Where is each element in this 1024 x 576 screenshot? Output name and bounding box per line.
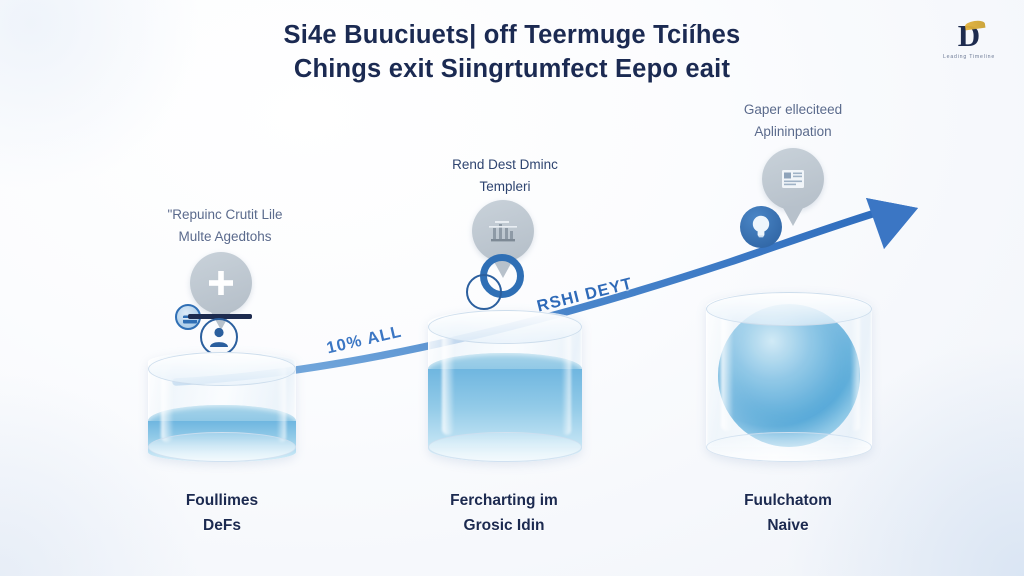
stage-1-upper-label: "Repuinc Crutit Lile Multe Agedtohs [118,204,332,248]
stage-1-caption-line-1: Foullimes [122,488,322,513]
cylinder-top-rim [428,310,582,344]
pin-drop-shape [472,200,534,262]
stage-1-caption: Foullimes DeFs [122,488,322,538]
stage-3-caption: Fuulchatom Naive [688,488,888,538]
glass-highlight-left [721,312,733,431]
factory-icon [472,200,534,262]
stage-2-caption: Fercharting im Grosic Idin [404,488,604,538]
ring-outline-badge[interactable] [466,274,502,310]
lightbulb-badge[interactable] [740,206,782,248]
glass-highlight-left [442,328,454,434]
page-title: Si4e Buuciuets| off Teermuge Tciíhes Chi… [0,18,1024,86]
stage-3-upper-label: Gaper elleciteed Aplininpation [680,99,906,143]
infographic-canvas: Si4e Buuciuets| off Teermuge Tciíhes Chi… [0,0,1024,576]
arrow-label-1: 10% ALL [325,323,404,359]
brand-logo: D Leading Timeline [936,18,1002,70]
stage-2-upper-line-1: Rend Dest Dminc [398,154,612,176]
stage-1-cylinder [148,352,296,462]
stage-2-caption-line-1: Fercharting im [404,488,604,513]
cylinder-bottom-rim [148,432,296,462]
stage-2-cylinder [428,310,582,462]
stage-3-caption-line-1: Fuulchatom [688,488,888,513]
logo-subtext: Leading Timeline [936,54,1002,60]
stage-1-upper-line-1: "Repuinc Crutit Lile [118,204,332,226]
stage-3-caption-line-2: Naive [688,513,888,538]
stage-3-pin-marker[interactable] [762,148,824,210]
plus-icon [190,252,252,314]
user-account-icon[interactable] [200,318,238,356]
stage-2-caption-line-2: Grosic Idin [404,513,604,538]
stage-1-caption-line-2: DeFs [122,513,322,538]
title-line-2: Chings exit Siingrtumfect Eepo eait [0,52,1024,86]
stage-1-upper-line-2: Multe Agedtohs [118,226,332,248]
pin-drop-shape [190,252,252,314]
logo-letter-mark: D [936,18,1002,54]
cylinder-bottom-rim [706,432,872,462]
building-document-icon [762,148,824,210]
stage-3-cylinder [706,292,872,462]
stage-1-pin-marker[interactable] [190,252,252,314]
title-line-1: Si4e Buuciuets| off Teermuge Tciíhes [0,18,1024,52]
stage-2-upper-line-2: Templeri [398,176,612,198]
stage-2-upper-label: Rend Dest Dminc Templeri [398,154,612,198]
cylinder-bottom-rim [428,432,582,462]
stage-3-upper-line-2: Aplininpation [680,121,906,143]
cylinder-top-rim [148,352,296,386]
glass-highlight-right [851,312,860,431]
stage-2-pin-marker[interactable] [472,200,534,262]
glass-highlight-right [562,328,571,434]
stage-3-upper-line-1: Gaper elleciteed [680,99,906,121]
cylinder-top-rim [706,292,872,326]
pin-drop-shape [762,148,824,210]
